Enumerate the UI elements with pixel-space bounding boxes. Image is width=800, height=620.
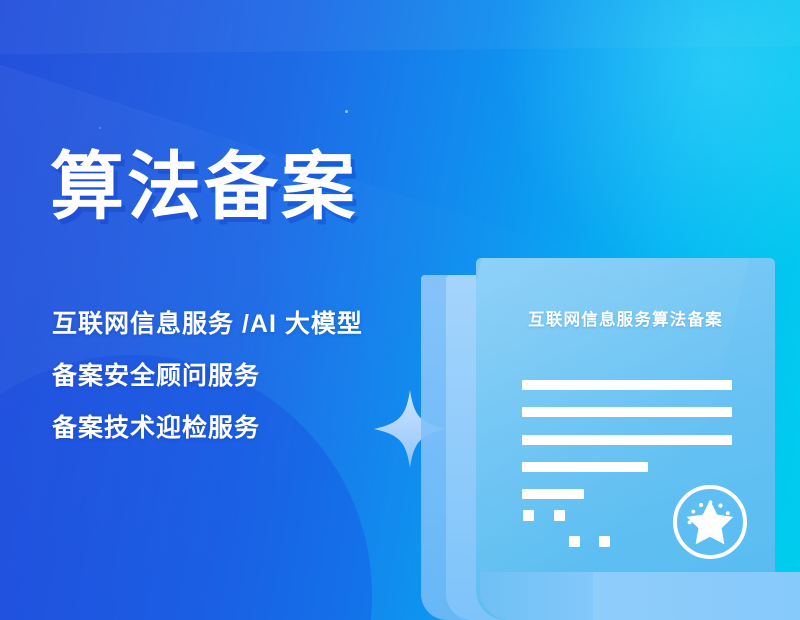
document-text-line	[522, 380, 732, 390]
star-seal-icon	[671, 483, 749, 561]
document-square-mark	[599, 536, 610, 547]
document-text-line	[522, 407, 732, 417]
bottom-accent-panel	[593, 572, 800, 620]
page-title: 算法备案	[50, 148, 358, 226]
document-text-line	[522, 489, 584, 499]
service-list-item: 备案安全顾问服务	[52, 350, 432, 402]
document-page-front: 互联网信息服务算法备案	[476, 258, 775, 620]
document-square-mark	[554, 510, 565, 521]
algorithm-filing-banner: 互联网信息服务算法备案 算法备案	[0, 0, 800, 620]
document-card-title: 互联网信息服务算法备案	[476, 306, 775, 330]
document-square-mark	[523, 510, 534, 521]
service-list-item: 互联网信息服务 /AI 大模型	[52, 298, 432, 350]
document-text-line	[522, 462, 648, 472]
service-list: 互联网信息服务 /AI 大模型 备案安全顾问服务 备案技术迎检服务	[52, 298, 432, 454]
document-text-line	[522, 435, 732, 445]
document-square-mark	[569, 536, 580, 547]
bottom-accent-panel-left	[480, 572, 610, 620]
service-list-item: 备案技术迎检服务	[52, 402, 432, 454]
